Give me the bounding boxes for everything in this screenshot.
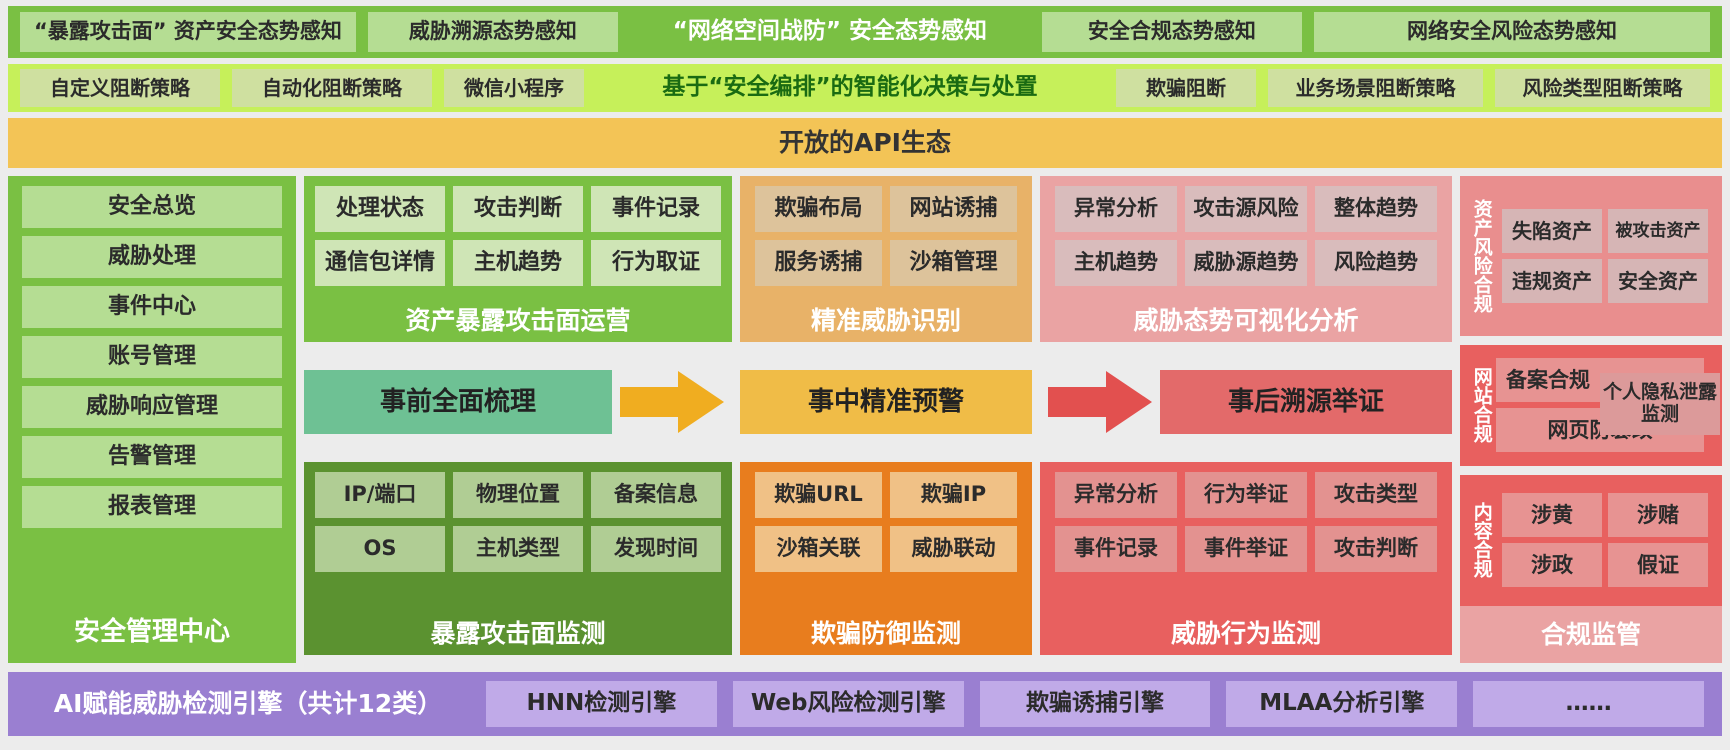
exposure-attack-surface-monitor-footer: 暴露攻击面监测 <box>314 617 722 651</box>
exposure-column: 处理状态 攻击判断 事件记录 通信包详情 主机趋势 行为取证 资产暴露攻击面运营… <box>304 176 732 663</box>
expomon-box-ip-port[interactable]: IP/端口 <box>315 472 445 518</box>
decmon-box-sandbox-correlation[interactable]: 沙箱关联 <box>755 526 882 572</box>
thrbeh-box-attack-judgment[interactable]: 攻击判断 <box>1315 526 1437 572</box>
engine-mlaa[interactable]: MLAA分析引擎 <box>1226 681 1457 727</box>
threatid-box-deception-layout[interactable]: 欺骗布局 <box>755 186 882 232</box>
content-compliance-label: 内容合规 <box>1466 483 1496 599</box>
threatid-box-website-trap[interactable]: 网站诱捕 <box>890 186 1017 232</box>
threatid-box-sandbox-management[interactable]: 沙箱管理 <box>890 240 1017 286</box>
thrbeh-box-event-evidence[interactable]: 事件举证 <box>1185 526 1307 572</box>
assetrisk-box-noncompliant-assets[interactable]: 违规资产 <box>1502 259 1602 303</box>
blocking-strategy-row: 自定义阻断策略 自动化阻断策略 微信小程序 基于“安全编排”的智能化决策与处置 … <box>8 64 1722 112</box>
expomon-box-discovery-time[interactable]: 发现时间 <box>591 526 721 572</box>
stage-band-before: 事前全面梳理 <box>304 342 732 462</box>
ai-detection-engines-row: AI赋能威胁检测引擎（共计12类） HNN检测引擎 Web风险检测引擎 欺骗诱捕… <box>8 672 1722 736</box>
compliance-supervision-footer: 合规监管 <box>1460 606 1722 663</box>
engine-web-risk[interactable]: Web风险检测引擎 <box>733 681 964 727</box>
exposure-attack-surface-monitor-panel: IP/端口 物理位置 备案信息 OS 主机类型 发现时间 暴露攻击面监测 <box>304 462 732 655</box>
security-management-center-panel: 安全总览 威胁处理 事件中心 账号管理 威胁响应管理 告警管理 报表管理 安全管… <box>8 176 296 663</box>
asset-risk-compliance-block: 资产风险合规 失陷资产 被攻击资产 违规资产 安全资产 <box>1460 176 1722 336</box>
thrvis-box-overall-trend[interactable]: 整体趋势 <box>1315 186 1437 232</box>
main-architecture-grid: 安全总览 威胁处理 事件中心 账号管理 威胁响应管理 告警管理 报表管理 安全管… <box>8 176 1722 663</box>
arrow-during-to-after-wrap <box>1040 371 1160 433</box>
website-compliance-label: 网站合规 <box>1466 353 1496 458</box>
thrvis-box-anomaly-analysis[interactable]: 异常分析 <box>1055 186 1177 232</box>
situational-awareness-row: “暴露攻击面” 资产安全态势感知 威胁溯源态势感知 “网络空间战防” 安全态势感… <box>8 6 1722 58</box>
blocking-item-automatic[interactable]: 自动化阻断策略 <box>232 69 432 107</box>
sidebar-item-threat-response-management[interactable]: 威胁响应管理 <box>22 386 282 428</box>
sidebar-item-event-center[interactable]: 事件中心 <box>22 286 282 328</box>
engine-deception-trap[interactable]: 欺骗诱捕引擎 <box>980 681 1211 727</box>
threat-behavior-monitor-panel: 异常分析 行为举证 攻击类型 事件记录 事件举证 攻击判断 威胁行为监测 <box>1040 462 1452 655</box>
arrow-right-icon-amber <box>620 371 724 433</box>
thrbeh-box-attack-type[interactable]: 攻击类型 <box>1315 472 1437 518</box>
expomon-box-physical-location[interactable]: 物理位置 <box>453 472 583 518</box>
expomon-box-filing-info[interactable]: 备案信息 <box>591 472 721 518</box>
threat-behavior-monitor-footer: 威胁行为监测 <box>1050 617 1442 651</box>
assetrisk-box-attacked-assets[interactable]: 被攻击资产 <box>1608 209 1708 253</box>
sidebar-item-alert-management[interactable]: 告警管理 <box>22 436 282 478</box>
threat-situation-visualization-panel: 异常分析 攻击源风险 整体趋势 主机趋势 威胁源趋势 风险趋势 威胁态势可视化分… <box>1040 176 1452 342</box>
expo-box-attack-judgment[interactable]: 攻击判断 <box>453 186 583 232</box>
threat-column: 异常分析 攻击源风险 整体趋势 主机趋势 威胁源趋势 风险趋势 威胁态势可视化分… <box>1040 176 1452 663</box>
blocking-item-risk-type[interactable]: 风险类型阻断策略 <box>1495 69 1710 107</box>
expo-box-host-trend[interactable]: 主机趋势 <box>453 240 583 286</box>
blocking-item-wechat-miniprogram[interactable]: 微信小程序 <box>444 69 584 107</box>
compliance-spacer-1 <box>1460 336 1722 345</box>
assetrisk-box-secure-assets[interactable]: 安全资产 <box>1608 259 1708 303</box>
stage-band-during: 事中精准预警 <box>740 342 1032 462</box>
thrvis-box-attack-source-risk[interactable]: 攻击源风险 <box>1185 186 1307 232</box>
security-platform-architecture-diagram: “暴露攻击面” 资产安全态势感知 威胁溯源态势感知 “网络空间战防” 安全态势感… <box>0 0 1730 750</box>
precise-threat-identification-panel: 欺骗布局 网站诱捕 服务诱捕 沙箱管理 精准威胁识别 <box>740 176 1032 342</box>
threat-situation-visualization-footer: 威胁态势可视化分析 <box>1050 304 1442 338</box>
decmon-box-deception-url[interactable]: 欺骗URL <box>755 472 882 518</box>
content-box-gambling[interactable]: 涉赌 <box>1608 493 1708 537</box>
asset-exposure-operations-panel: 处理状态 攻击判断 事件记录 通信包详情 主机趋势 行为取证 资产暴露攻击面运营 <box>304 176 732 342</box>
compliance-column: 资产风险合规 失陷资产 被攻击资产 违规资产 安全资产 网站合规 备案合规 网页… <box>1460 176 1722 663</box>
asset-risk-compliance-label: 资产风险合规 <box>1466 184 1496 328</box>
sa-item-exposed-attack-surface[interactable]: “暴露攻击面” 资产安全态势感知 <box>20 12 356 52</box>
sa-item-cyber-risk[interactable]: 网络安全风险态势感知 <box>1314 12 1710 52</box>
sidebar-item-threat-handling[interactable]: 威胁处理 <box>22 236 282 278</box>
deception-defense-monitor-footer: 欺骗防御监测 <box>750 617 1022 651</box>
website-compliance-block: 网站合规 备案合规 网页防篡改 个人隐私泄露监测 <box>1460 345 1722 466</box>
deception-defense-monitor-panel: 欺骗URL 欺骗IP 沙箱关联 威胁联动 欺骗防御监测 <box>740 462 1032 655</box>
blocking-item-deception-block[interactable]: 欺骗阻断 <box>1116 69 1256 107</box>
thrvis-box-host-trend[interactable]: 主机趋势 <box>1055 240 1177 286</box>
precise-threat-identification-footer: 精准威胁识别 <box>750 304 1022 338</box>
stage-before: 事前全面梳理 <box>304 370 612 434</box>
open-api-ecosystem-banner: 开放的API生态 <box>8 118 1722 168</box>
content-box-politics[interactable]: 涉政 <box>1502 543 1602 587</box>
blocking-item-business-scenario[interactable]: 业务场景阻断策略 <box>1268 69 1483 107</box>
stage-band-after: 事后溯源举证 <box>1040 342 1452 462</box>
expo-box-packet-detail[interactable]: 通信包详情 <box>315 240 445 286</box>
blocking-item-security-orchestration[interactable]: 基于“安全编排”的智能化决策与处置 <box>596 69 1104 107</box>
deception-column: 欺骗布局 网站诱捕 服务诱捕 沙箱管理 精准威胁识别 事中精准预警 欺骗URL … <box>740 176 1032 663</box>
assetrisk-box-compromised-assets[interactable]: 失陷资产 <box>1502 209 1602 253</box>
content-compliance-block: 内容合规 涉黄 涉赌 涉政 假证 <box>1460 475 1722 607</box>
thrbeh-box-event-record[interactable]: 事件记录 <box>1055 526 1177 572</box>
decmon-box-deception-ip[interactable]: 欺骗IP <box>890 472 1017 518</box>
thrvis-box-risk-trend[interactable]: 风险趋势 <box>1315 240 1437 286</box>
sidebar-item-account-management[interactable]: 账号管理 <box>22 336 282 378</box>
thrvis-box-threat-source-trend[interactable]: 威胁源趋势 <box>1185 240 1307 286</box>
compliance-spacer-2 <box>1460 466 1722 475</box>
content-box-fake-credentials[interactable]: 假证 <box>1608 543 1708 587</box>
thrbeh-box-behavior-evidence[interactable]: 行为举证 <box>1185 472 1307 518</box>
engine-hnn[interactable]: HNN检测引擎 <box>486 681 717 727</box>
sa-item-cyberspace-defense[interactable]: “网络空间战防” 安全态势感知 <box>630 12 1030 52</box>
engine-more[interactable]: …… <box>1473 681 1704 727</box>
expo-box-processing-status[interactable]: 处理状态 <box>315 186 445 232</box>
site-box-privacy-leak-monitor[interactable]: 个人隐私泄露监测 <box>1600 373 1720 435</box>
arrow-right-icon-red <box>1048 371 1152 433</box>
engines-lead-label: AI赋能威胁检测引擎（共计12类） <box>18 690 478 718</box>
sa-item-threat-tracing[interactable]: 威胁溯源态势感知 <box>368 12 618 52</box>
stage-during: 事中精准预警 <box>740 370 1032 434</box>
threatid-box-service-trap[interactable]: 服务诱捕 <box>755 240 882 286</box>
thrbeh-box-anomaly-analysis[interactable]: 异常分析 <box>1055 472 1177 518</box>
arrow-before-to-during-wrap <box>612 371 732 433</box>
expo-box-behavior-forensics[interactable]: 行为取证 <box>591 240 721 286</box>
blocking-item-custom[interactable]: 自定义阻断策略 <box>20 69 220 107</box>
security-management-center-column: 安全总览 威胁处理 事件中心 账号管理 威胁响应管理 告警管理 报表管理 安全管… <box>8 176 296 663</box>
expomon-box-host-type[interactable]: 主机类型 <box>453 526 583 572</box>
sidebar-item-report-management[interactable]: 报表管理 <box>22 486 282 528</box>
stage-after: 事后溯源举证 <box>1160 370 1452 434</box>
sa-item-compliance[interactable]: 安全合规态势感知 <box>1042 12 1302 52</box>
decmon-box-threat-linkage[interactable]: 威胁联动 <box>890 526 1017 572</box>
asset-exposure-operations-footer: 资产暴露攻击面运营 <box>314 304 722 338</box>
security-management-center-footer: 安全管理中心 <box>22 609 282 655</box>
expo-box-event-record[interactable]: 事件记录 <box>591 186 721 232</box>
content-box-pornography[interactable]: 涉黄 <box>1502 493 1602 537</box>
expomon-box-os[interactable]: OS <box>315 526 445 572</box>
sidebar-item-security-overview[interactable]: 安全总览 <box>22 186 282 228</box>
